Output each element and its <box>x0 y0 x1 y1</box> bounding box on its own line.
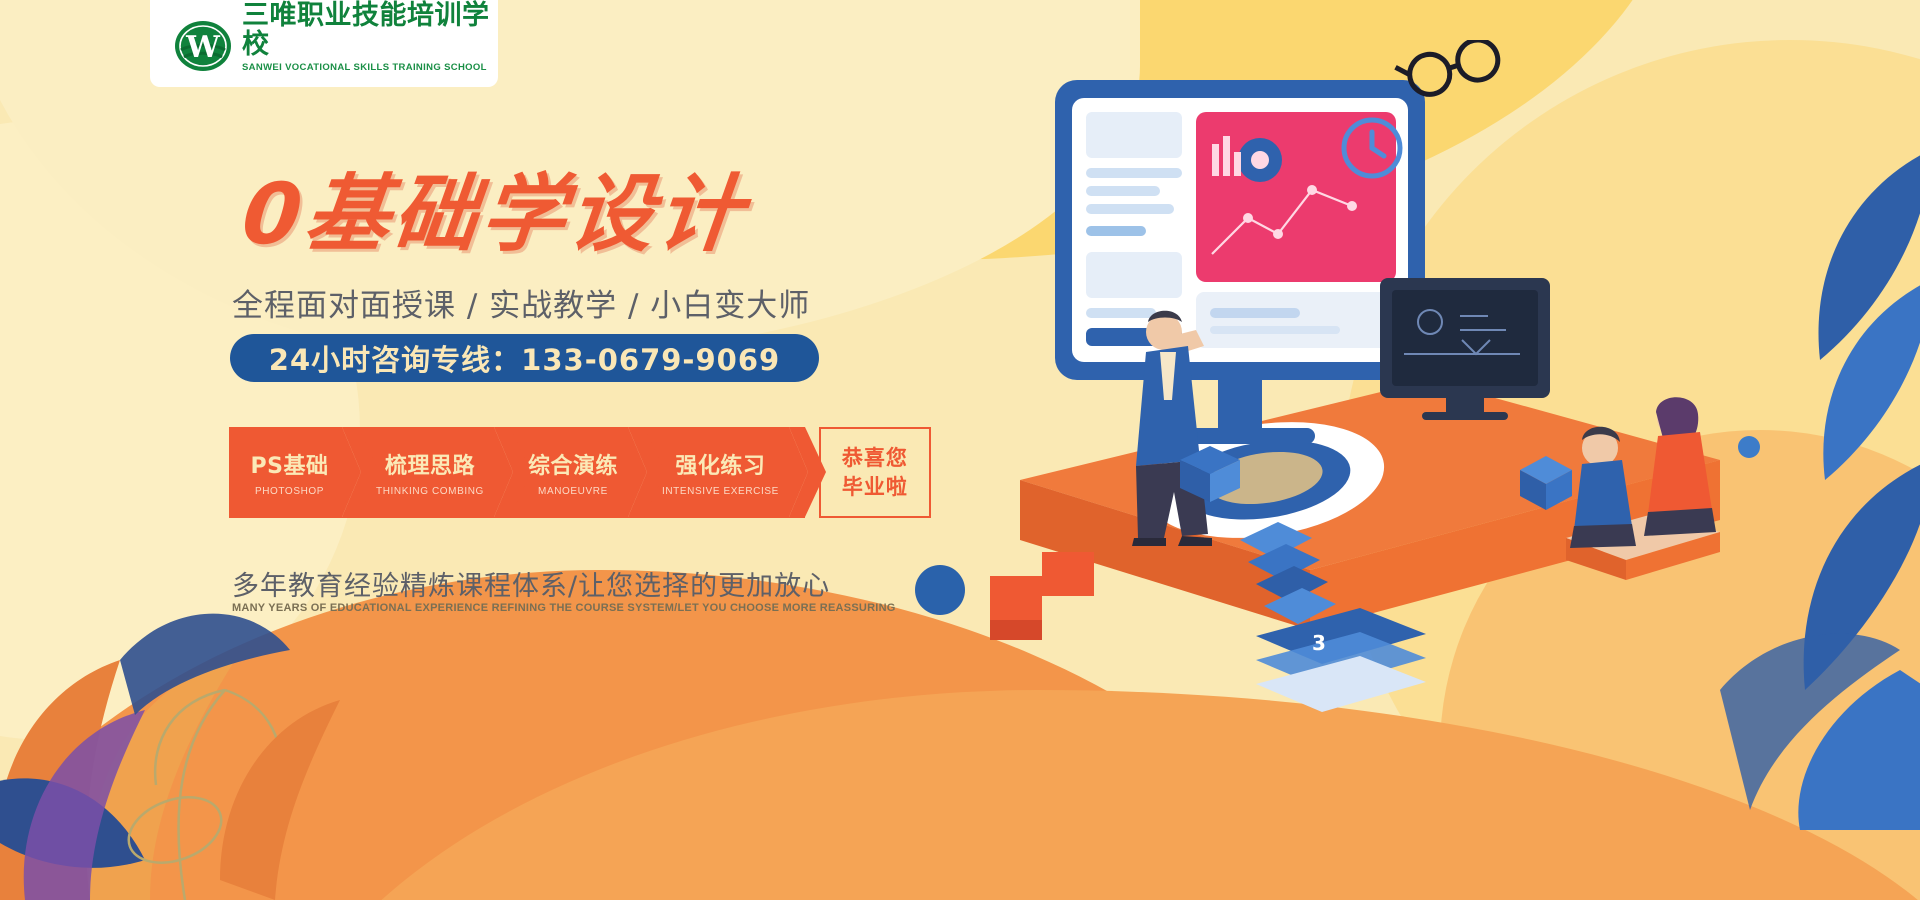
tagline-english: MANY YEARS OF EDUCATIONAL EXPERIENCE REF… <box>232 602 896 614</box>
logo-english-name: SANWEI VOCATIONAL SKILLS TRAINING SCHOOL <box>242 62 498 73</box>
hotline-text: 24小时咨询专线：133-0679-9069 <box>269 337 780 379</box>
step-item-1[interactable]: PS基础 PHOTOSHOP <box>229 427 358 518</box>
course-steps: PS基础 PHOTOSHOP 梳理思路 THINKING COMBING 综合演… <box>229 427 931 518</box>
decoration-dot-blue <box>915 565 965 615</box>
svg-text:W: W <box>185 30 221 65</box>
step-chevron-icon <box>494 427 513 517</box>
school-logo[interactable]: W 三唯职业技能培训学校 SANWEI VOCATIONAL SKILLS TR… <box>150 0 498 87</box>
step-label-en: PHOTOSHOP <box>255 486 324 497</box>
step-chevron-icon <box>342 427 361 517</box>
step-item-2[interactable]: 梳理思路 THINKING COMBING <box>358 427 510 518</box>
floating-cards-illustration: 3 <box>1256 608 1426 712</box>
graduation-badge[interactable]: 恭喜您 毕业啦 <box>819 427 931 518</box>
svg-text:3: 3 <box>1312 631 1326 655</box>
hero-illustration: 3 <box>960 40 1920 860</box>
step-label-cn: 梳理思路 <box>385 448 475 480</box>
step-label-en: MANOEUVRE <box>538 486 608 497</box>
step-label-en: INTENSIVE EXERCISE <box>662 486 779 497</box>
promo-banner: W 三唯职业技能培训学校 SANWEI VOCATIONAL SKILLS TR… <box>0 0 1920 900</box>
graduation-line-1: 恭喜您 <box>842 444 908 472</box>
step-label-cn: PS基础 <box>251 448 329 480</box>
hero-subtitle: 全程面对面授课 / 实战教学 / 小白变大师 <box>232 280 810 325</box>
step-label-cn: 综合演练 <box>528 448 618 480</box>
hotline-pill[interactable]: 24小时咨询专线：133-0679-9069 <box>230 334 819 382</box>
w-emblem-icon: W <box>174 17 232 75</box>
graduation-line-2: 毕业啦 <box>842 473 908 501</box>
step-chevron-icon <box>628 427 647 517</box>
tagline-chinese: 多年教育经验精炼课程体系/让您选择的更加放心 <box>232 564 830 603</box>
page-title: 0基础学设计 <box>239 172 750 256</box>
step-chevron-icon <box>789 427 808 517</box>
step-label-cn: 强化练习 <box>675 448 765 480</box>
step-label-en: THINKING COMBING <box>376 486 484 497</box>
logo-chinese-name: 三唯职业技能培训学校 <box>242 2 498 59</box>
step-item-4[interactable]: 强化练习 INTENSIVE EXERCISE <box>644 427 805 518</box>
